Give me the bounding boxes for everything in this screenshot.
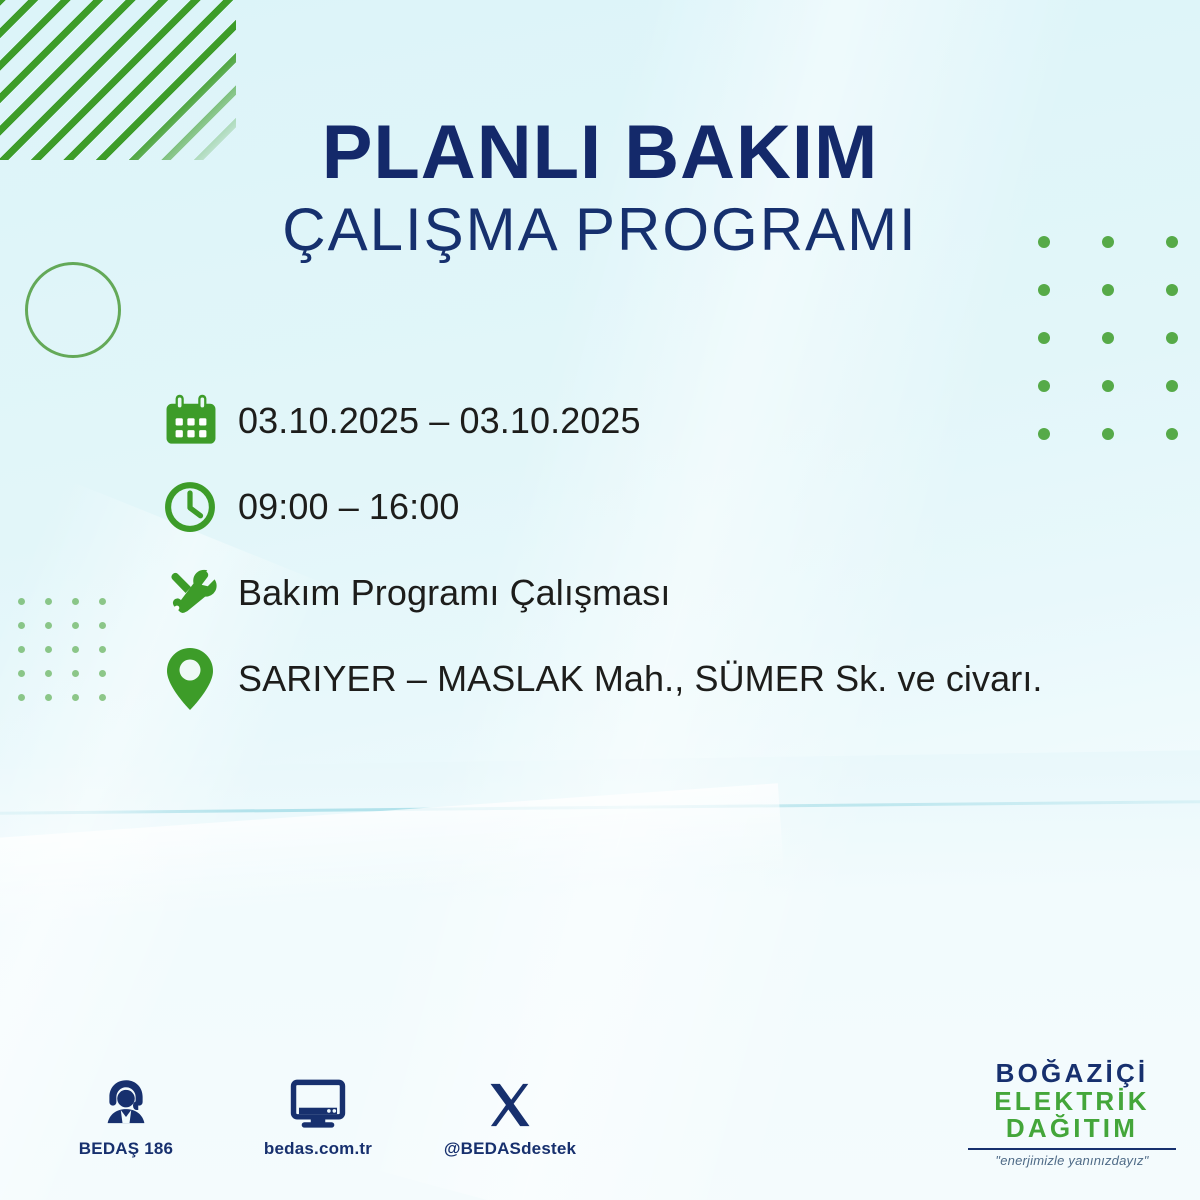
contact-phone-label: BEDAŞ 186	[79, 1139, 173, 1159]
brand-logo-line-3: DAĞITIM	[962, 1115, 1182, 1143]
dot	[72, 694, 79, 701]
contact-phone[interactable]: BEDAŞ 186	[56, 1069, 196, 1159]
tools-icon	[162, 564, 238, 622]
brand-logo-divider	[968, 1148, 1176, 1150]
dot	[1166, 380, 1178, 392]
dot	[1102, 332, 1114, 344]
footer-contacts: BEDAŞ 186 bedas.com.tr @B	[56, 1069, 580, 1159]
dot	[1166, 332, 1178, 344]
dot	[99, 646, 106, 653]
detail-row-worktype: Bakım Programı Çalışması	[162, 550, 1162, 636]
dot-grid-left-decoration	[18, 598, 126, 718]
dot	[1166, 284, 1178, 296]
contact-social-label: @BEDASdestek	[444, 1139, 576, 1159]
dot	[45, 694, 52, 701]
x-twitter-icon	[484, 1069, 536, 1131]
dot	[18, 598, 25, 605]
dot	[99, 622, 106, 629]
dot	[1102, 284, 1114, 296]
location-pin-icon	[162, 646, 238, 712]
poster-header: PLANLI BAKIM ÇALIŞMA PROGRAMI	[0, 116, 1200, 264]
brand-logo-line-1: BOĞAZİÇİ	[962, 1060, 1182, 1088]
dot	[1038, 332, 1050, 344]
detail-time-text: 09:00 – 16:00	[238, 486, 460, 528]
dot	[45, 598, 52, 605]
page-subtitle: ÇALIŞMA PROGRAMI	[0, 196, 1200, 263]
dot	[18, 622, 25, 629]
detail-worktype-text: Bakım Programı Çalışması	[238, 572, 671, 614]
dot	[99, 670, 106, 677]
detail-row-time: 09:00 – 16:00	[162, 464, 1162, 550]
dot	[72, 670, 79, 677]
dot	[72, 646, 79, 653]
contact-website-label: bedas.com.tr	[264, 1139, 372, 1159]
brand-logo-line-2: ELEKTRİK	[962, 1088, 1182, 1116]
planned-maintenance-poster: PLANLI BAKIM ÇALIŞMA PROGRAMI	[0, 0, 1200, 1200]
brand-logo-tagline: "enerjimizle yanınızdayız"	[962, 1153, 1182, 1168]
detail-location-text: SARIYER – MASLAK Mah., SÜMER Sk. ve civa…	[238, 658, 1043, 700]
calendar-icon	[162, 392, 238, 450]
page-title: PLANLI BAKIM	[0, 116, 1200, 190]
dot	[99, 598, 106, 605]
detail-row-location: SARIYER – MASLAK Mah., SÜMER Sk. ve civa…	[162, 636, 1162, 722]
dot	[18, 646, 25, 653]
brand-logo: BOĞAZİÇİ ELEKTRİK DAĞITIM "enerjimizle y…	[962, 1060, 1182, 1168]
dot	[1166, 428, 1178, 440]
headset-support-icon	[98, 1069, 154, 1131]
dot	[99, 694, 106, 701]
circle-outline-decoration	[25, 262, 121, 358]
dot	[1038, 284, 1050, 296]
contact-website[interactable]: bedas.com.tr	[248, 1069, 388, 1159]
detail-date-text: 03.10.2025 – 03.10.2025	[238, 400, 641, 442]
clock-icon	[162, 479, 238, 535]
detail-row-date: 03.10.2025 – 03.10.2025	[162, 378, 1162, 464]
maintenance-details-list: 03.10.2025 – 03.10.2025 09:00 – 16:00	[162, 378, 1162, 722]
dot	[45, 646, 52, 653]
monitor-website-icon	[289, 1069, 347, 1131]
contact-social[interactable]: @BEDASdestek	[440, 1069, 580, 1159]
dot	[18, 670, 25, 677]
dot	[72, 598, 79, 605]
dot	[45, 622, 52, 629]
dot	[72, 622, 79, 629]
dot	[18, 694, 25, 701]
dot	[45, 670, 52, 677]
